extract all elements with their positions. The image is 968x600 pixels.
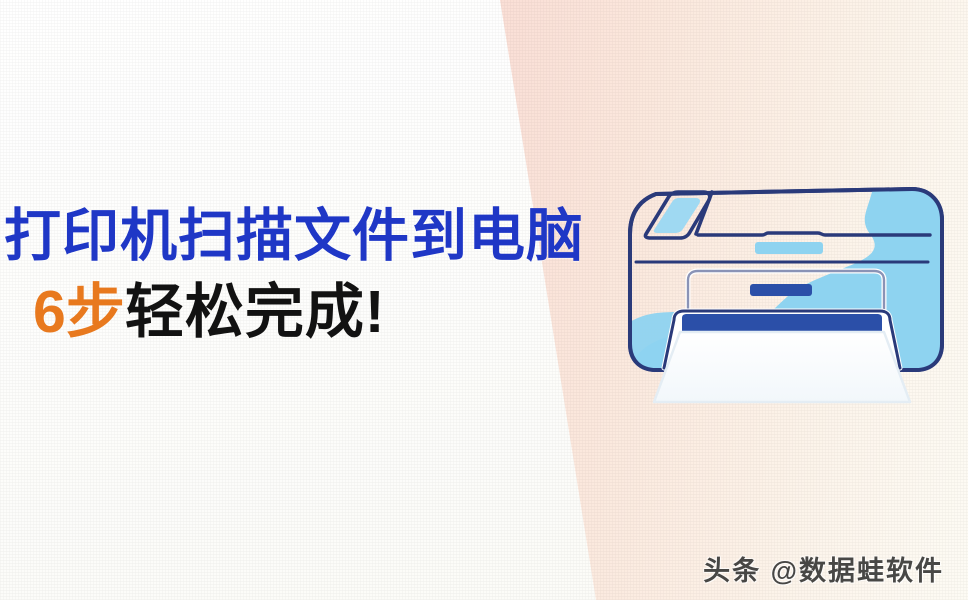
printer-slot-bar: [682, 314, 882, 332]
watermark-text: 头条 @数据蛙软件: [703, 549, 944, 588]
printer-lid-seam: [698, 233, 930, 235]
printer-output-tray: [654, 311, 910, 402]
cover-image-canvas: 打印机扫描文件到电脑 6步轻松完成!: [0, 0, 968, 600]
printer-status-bar: [750, 284, 812, 296]
headline-step-count: 6步: [33, 279, 125, 345]
printer-illustration: [612, 172, 962, 420]
headline-step-rest: 轻松完成!: [125, 279, 386, 345]
headline-secondary-line: 6步轻松完成!: [0, 283, 560, 342]
printer-control-panel: [645, 192, 712, 238]
printer-lid-tab: [755, 242, 823, 254]
headline-block: 打印机扫描文件到电脑 6步轻松完成!: [0, 208, 560, 342]
printer-output-paper: [654, 332, 910, 402]
headline-primary-line: 打印机扫描文件到电脑: [0, 208, 560, 265]
